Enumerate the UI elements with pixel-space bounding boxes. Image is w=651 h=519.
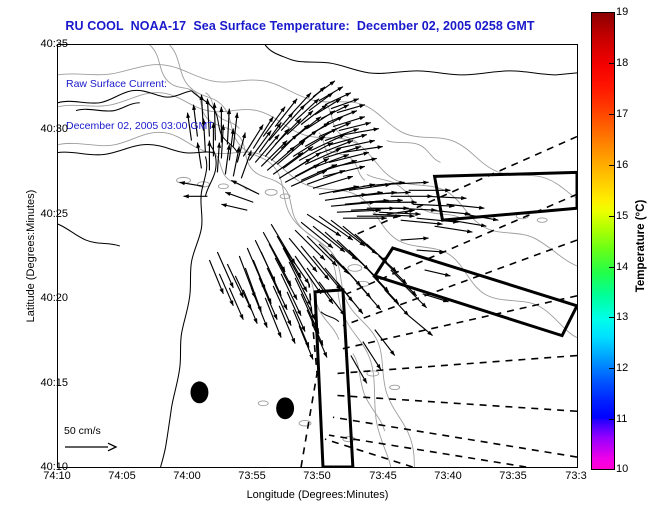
cbar-tickmark [609,165,615,166]
ytick-40-35: 40:35 [24,38,68,50]
cbar-tick-19: 19 [616,6,642,18]
ytick-40-30: 40:30 [24,123,68,135]
colorbar[interactable] [591,12,615,470]
sst-map-figure: RU COOL NOAA-17 Sea Surface Temperature:… [0,0,651,519]
cbar-tick-17: 17 [616,108,642,120]
annotation-line-1: Raw Surface Current: [66,77,214,91]
station-marker [190,381,208,403]
cbar-tick-12: 12 [616,362,642,374]
xtick-73-50: 73:50 [287,470,347,482]
colorbar-label: Temperature (°C) [635,146,647,346]
scale-legend-label: 50 cm/s [64,425,164,437]
colorbar-gradient [591,12,615,470]
cbar-tickmark [609,267,615,268]
annotation-block: Raw Surface Current: December 02, 2005 0… [66,49,214,161]
cbar-tickmark [609,469,615,470]
y-axis-label: Latitude (Degrees:Minutes) [25,146,37,366]
ytick-40-15: 40:15 [24,377,68,389]
radar-beam-polygons [315,172,577,467]
xtick-73-55: 73:55 [222,470,282,482]
x-axis-label: Longitude (Degrees:Minutes) [57,489,578,501]
xtick-73-45: 73:45 [353,470,413,482]
right-arrow-icon [64,441,120,453]
xtick-73-35: 73:35 [483,470,543,482]
cbar-tickmark [609,114,615,115]
cbar-tickmark [609,216,615,217]
xtick-74-10: 74:10 [27,470,87,482]
figure-title: RU COOL NOAA-17 Sea Surface Temperature:… [0,19,600,33]
xtick-73-40: 73:40 [418,470,478,482]
annotation-line-2: December 02, 2005 03:00 GMT [66,119,214,133]
cbar-tickmark [609,419,615,420]
cbar-tick-11: 11 [616,413,642,425]
cbar-tick-18: 18 [616,57,642,69]
cbar-tickmark [609,368,615,369]
station-markers[interactable] [190,381,294,419]
cbar-tick-10: 10 [616,463,642,475]
cbar-tickmark [609,12,615,13]
surface-current-vectors [180,81,499,384]
xtick-74-05: 74:05 [92,470,152,482]
scale-legend: 50 cm/s [64,425,164,453]
map-plot-area[interactable]: Raw Surface Current: December 02, 2005 0… [57,44,578,468]
xtick-74-00: 74:00 [157,470,217,482]
xtick-73-30: 73:3 [546,470,606,482]
cbar-tickmark [609,63,615,64]
cbar-tickmark [609,317,615,318]
station-marker [276,397,294,419]
